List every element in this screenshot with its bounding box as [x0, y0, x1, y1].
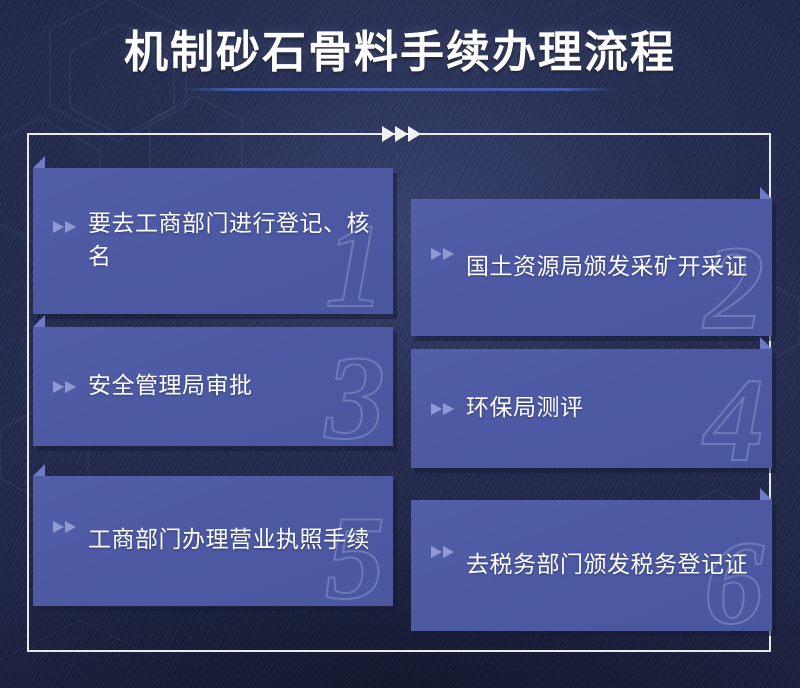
- step-card-6[interactable]: 6 去税务部门颁发税务登记证: [411, 500, 772, 631]
- step-card-label: 要去工商部门进行登记、核名: [88, 208, 377, 275]
- triple-right-arrow-icon: [382, 124, 426, 144]
- corner-tab-accent: [760, 488, 772, 500]
- slide-canvas: 机制砂石骨料手续办理流程 1 要去工商部门进行登记、核名 2 国土资源局颁发采矿…: [0, 0, 800, 688]
- double-right-arrow-icon: [431, 247, 457, 261]
- double-right-arrow-icon: [431, 402, 457, 416]
- step-card-label: 安全管理局审批: [88, 370, 253, 403]
- step-card-5[interactable]: 5 工商部门办理营业执照手续: [33, 476, 393, 606]
- double-right-arrow-icon: [431, 545, 457, 559]
- step-card-2[interactable]: 2 国土资源局颁发采矿开采证: [411, 199, 772, 336]
- corner-tab-accent: [760, 187, 772, 199]
- double-right-arrow-icon: [53, 220, 79, 234]
- page-title-container: 机制砂石骨料手续办理流程: [0, 28, 800, 79]
- step-card-4[interactable]: 4 环保局测评: [411, 349, 772, 468]
- corner-tab-accent: [760, 337, 772, 349]
- corner-tab-accent: [33, 156, 45, 168]
- step-card-3[interactable]: 3 安全管理局审批: [33, 327, 393, 446]
- step-card-label: 环保局测评: [466, 392, 584, 425]
- step-card-1[interactable]: 1 要去工商部门进行登记、核名: [33, 168, 393, 314]
- double-right-arrow-icon: [53, 520, 79, 534]
- step-card-label: 国土资源局颁发采矿开采证: [466, 251, 748, 284]
- double-right-arrow-icon: [53, 380, 79, 394]
- title-underline-rule: [182, 88, 618, 91]
- corner-tab-accent: [33, 464, 45, 476]
- page-title: 机制砂石骨料手续办理流程: [124, 28, 676, 79]
- corner-tab-accent: [33, 315, 45, 327]
- step-card-label: 工商部门办理营业执照手续: [88, 524, 370, 557]
- step-card-label: 去税务部门颁发税务登记证: [466, 549, 748, 582]
